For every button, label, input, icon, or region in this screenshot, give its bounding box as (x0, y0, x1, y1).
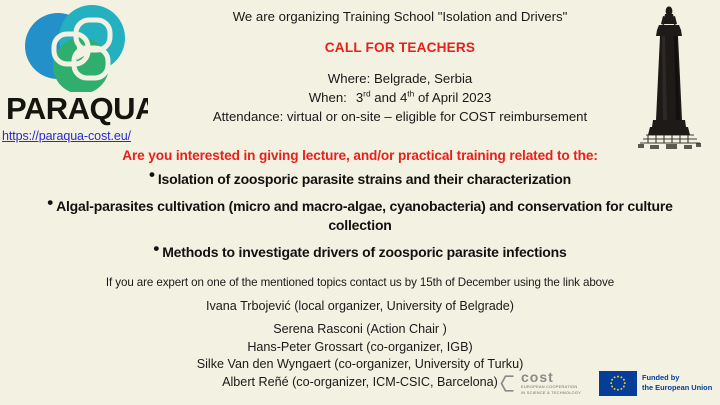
cost-logo-text: cost EUROPEAN COOPERATION IN SCIENCE & T… (521, 370, 583, 396)
paraqua-url-link[interactable]: https://paraqua-cost.eu/ (2, 129, 131, 143)
paraqua-wordmark: PARAQUA (4, 88, 148, 128)
topic-item: •Algal-parasites cultivation (micro and … (12, 197, 708, 234)
eu-funding-logo: Funded by the European Union (599, 371, 712, 396)
attendance-line: Attendance: virtual or on-site – eligibl… (170, 107, 630, 126)
intro-line: We are organizing Training School "Isola… (170, 8, 630, 26)
bullet-icon: • (47, 193, 53, 212)
when-middle: and 4 (371, 90, 408, 105)
call-question-heading: Are you interested in giving lecture, an… (0, 148, 720, 163)
cost-wordmark: cost (521, 370, 583, 384)
topic-text: Methods to investigate drivers of zoospo… (162, 244, 566, 260)
call-for-teachers-title: CALL FOR TEACHERS (170, 40, 630, 55)
when-day1-suffix: rd (363, 89, 370, 99)
eu-funding-line2: the European Union (642, 383, 712, 393)
paraqua-wordmark-text: PARAQUA (6, 91, 148, 126)
contact-instruction: If you are expert on one of the mentione… (0, 276, 720, 289)
topic-item: •Methods to investigate drivers of zoosp… (12, 243, 708, 261)
eu-funding-line1: Funded by (642, 373, 712, 383)
cost-hexagon-icon (500, 374, 517, 393)
organizer-item: Ivana Trbojević (local organizer, Univer… (0, 298, 720, 315)
topic-item: •Isolation of zoosporic parasite strains… (12, 170, 708, 188)
when-label: When: (309, 90, 347, 105)
topics-list: •Isolation of zoosporic parasite strains… (12, 170, 708, 271)
cost-tagline-line2: IN SCIENCE & TECHNOLOGY (521, 390, 583, 396)
organizer-item: Hans-Peter Grossart (co-organizer, IGB) (0, 339, 720, 356)
eu-funding-text: Funded by the European Union (642, 373, 712, 394)
bullet-icon: • (149, 165, 155, 184)
when-tail: of April 2023 (414, 90, 491, 105)
poster-canvas: PARAQUA https://paraqua-cost.eu/ (0, 0, 720, 405)
where-value: Belgrade, Serbia (374, 71, 472, 86)
footer-logos: cost EUROPEAN COOPERATION IN SCIENCE & T… (500, 366, 715, 400)
topic-text: Isolation of zoosporic parasite strains … (158, 171, 571, 187)
cost-logo: cost EUROPEAN COOPERATION IN SCIENCE & T… (500, 370, 583, 396)
paraqua-logo-block: PARAQUA https://paraqua-cost.eu/ (0, 2, 150, 150)
bullet-icon: • (153, 239, 159, 258)
where-label: Where: (328, 71, 371, 86)
eu-flag-icon (599, 371, 637, 396)
cost-wordmark-text: cost (521, 370, 554, 384)
header-text-block: We are organizing Training School "Isola… (170, 8, 630, 126)
paraqua-logo-icon (14, 4, 134, 92)
organizer-item: Serena Rasconi (Action Chair ) (0, 321, 720, 338)
where-line: Where: Belgrade, Serbia (170, 69, 630, 88)
when-line: When:3rd and 4th of April 2023 (170, 88, 630, 107)
belgrade-monument-illustration (626, 2, 712, 152)
topic-text: Algal-parasites cultivation (micro and m… (56, 198, 673, 232)
